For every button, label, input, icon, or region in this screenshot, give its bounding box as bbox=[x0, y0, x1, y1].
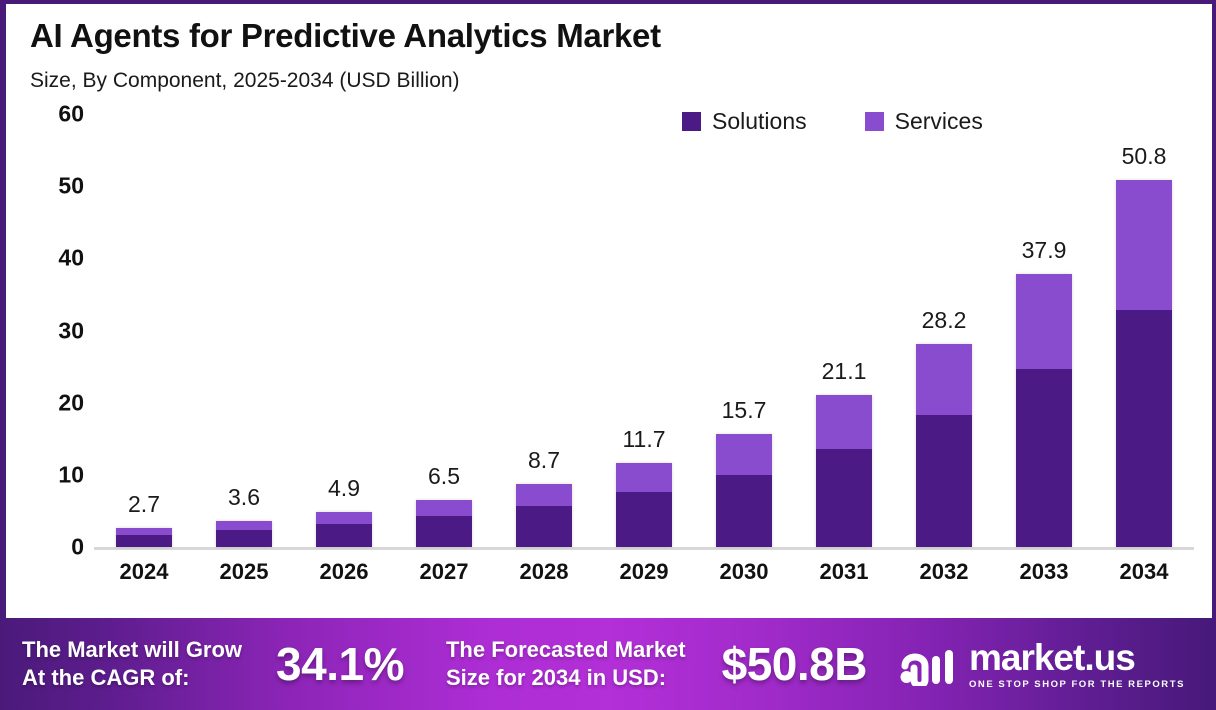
cagr-label: The Market will Grow At the CAGR of: bbox=[22, 636, 242, 691]
bar-segment-solutions[interactable] bbox=[116, 535, 172, 547]
logo-text: market.us ONE STOP SHOP FOR THE REPORTS bbox=[969, 639, 1185, 690]
x-axis-tick: 2030 bbox=[708, 559, 780, 585]
x-axis-tick: 2027 bbox=[408, 559, 480, 585]
bar-column[interactable]: 3.6 bbox=[208, 114, 280, 547]
bar-value-label: 2.7 bbox=[128, 491, 160, 518]
bar-group: 2.73.64.96.58.711.715.721.128.237.950.8 bbox=[94, 114, 1194, 547]
bar-stack[interactable] bbox=[116, 528, 172, 547]
x-axis: 2024202520262027202820292030203120322033… bbox=[94, 559, 1194, 585]
bar-value-label: 15.7 bbox=[722, 397, 767, 424]
bar-value-label: 6.5 bbox=[428, 463, 460, 490]
bar-stack[interactable] bbox=[516, 484, 572, 547]
market-us-logo-icon bbox=[899, 642, 957, 686]
bar-segment-services[interactable] bbox=[416, 500, 472, 516]
bar-stack[interactable] bbox=[1116, 180, 1172, 547]
bar-value-label: 11.7 bbox=[622, 426, 665, 453]
forecast-label: The Forecasted Market Size for 2034 in U… bbox=[446, 636, 686, 691]
bar-segment-solutions[interactable] bbox=[416, 516, 472, 547]
header: AI Agents for Predictive Analytics Marke… bbox=[6, 4, 1212, 93]
x-axis-tick: 2031 bbox=[808, 559, 880, 585]
y-axis-tick: 50 bbox=[58, 173, 84, 200]
bar-column[interactable]: 28.2 bbox=[908, 114, 980, 547]
bar-segment-services[interactable] bbox=[1116, 180, 1172, 310]
bar-value-label: 21.1 bbox=[822, 358, 867, 385]
infographic-root: AI Agents for Predictive Analytics Marke… bbox=[0, 0, 1216, 706]
bar-column[interactable]: 2.7 bbox=[108, 114, 180, 547]
bar-value-label: 8.7 bbox=[528, 447, 560, 474]
bar-segment-solutions[interactable] bbox=[516, 506, 572, 547]
bar-value-label: 4.9 bbox=[328, 475, 360, 502]
bar-segment-solutions[interactable] bbox=[1116, 310, 1172, 547]
logo-name: market.us bbox=[969, 639, 1185, 676]
x-axis-tick: 2034 bbox=[1108, 559, 1180, 585]
x-axis-baseline bbox=[94, 547, 1194, 550]
bar-stack[interactable] bbox=[916, 344, 972, 548]
bar-column[interactable]: 11.7 bbox=[608, 114, 680, 547]
page-title: AI Agents for Predictive Analytics Marke… bbox=[30, 18, 1212, 55]
x-axis-tick: 2029 bbox=[608, 559, 680, 585]
x-axis-tick: 2028 bbox=[508, 559, 580, 585]
bar-segment-services[interactable] bbox=[216, 521, 272, 530]
x-axis-tick: 2025 bbox=[208, 559, 280, 585]
y-axis-tick: 60 bbox=[58, 101, 84, 128]
bar-value-label: 37.9 bbox=[1022, 237, 1067, 264]
cagr-value: 34.1% bbox=[276, 637, 404, 691]
x-axis-tick: 2026 bbox=[308, 559, 380, 585]
bar-segment-services[interactable] bbox=[816, 395, 872, 449]
bar-segment-services[interactable] bbox=[716, 434, 772, 475]
bar-value-label: 28.2 bbox=[922, 307, 967, 334]
y-axis-tick: 30 bbox=[58, 317, 84, 344]
x-axis-tick: 2033 bbox=[1008, 559, 1080, 585]
bar-segment-services[interactable] bbox=[616, 463, 672, 493]
chart-subtitle: Size, By Component, 2025-2034 (USD Billi… bbox=[30, 69, 1212, 93]
footer-banner: The Market will Grow At the CAGR of: 34.… bbox=[0, 618, 1216, 710]
logo-tagline: ONE STOP SHOP FOR THE REPORTS bbox=[969, 680, 1185, 690]
bar-column[interactable]: 21.1 bbox=[808, 114, 880, 547]
bar-stack[interactable] bbox=[816, 395, 872, 547]
bar-segment-solutions[interactable] bbox=[316, 524, 372, 547]
x-axis-tick: 2024 bbox=[108, 559, 180, 585]
bar-value-label: 3.6 bbox=[228, 484, 260, 511]
bar-segment-services[interactable] bbox=[1016, 274, 1072, 370]
bar-value-label: 50.8 bbox=[1122, 143, 1167, 170]
y-axis: 0102030405060 bbox=[6, 114, 94, 549]
bar-stack[interactable] bbox=[416, 500, 472, 547]
bar-segment-solutions[interactable] bbox=[916, 415, 972, 547]
bar-segment-solutions[interactable] bbox=[716, 475, 772, 547]
forecast-value: $50.8B bbox=[722, 637, 867, 691]
bar-column[interactable]: 50.8 bbox=[1108, 114, 1180, 547]
bar-column[interactable]: 4.9 bbox=[308, 114, 380, 547]
market-us-logo[interactable]: market.us ONE STOP SHOP FOR THE REPORTS bbox=[899, 639, 1185, 690]
chart-plot-area: 0102030405060 2.73.64.96.58.711.715.721.… bbox=[6, 114, 1216, 609]
bar-stack[interactable] bbox=[216, 521, 272, 547]
bar-segment-services[interactable] bbox=[316, 512, 372, 524]
bar-segment-solutions[interactable] bbox=[216, 530, 272, 547]
bar-segment-solutions[interactable] bbox=[616, 492, 672, 547]
y-axis-tick: 20 bbox=[58, 389, 84, 416]
bar-column[interactable]: 8.7 bbox=[508, 114, 580, 547]
x-axis-tick: 2032 bbox=[908, 559, 980, 585]
bar-column[interactable]: 15.7 bbox=[708, 114, 780, 547]
y-axis-tick: 0 bbox=[71, 534, 84, 561]
bar-stack[interactable] bbox=[316, 512, 372, 547]
bar-segment-services[interactable] bbox=[116, 528, 172, 535]
y-axis-tick: 10 bbox=[58, 461, 84, 488]
y-axis-tick: 40 bbox=[58, 245, 84, 272]
bar-column[interactable]: 37.9 bbox=[1008, 114, 1080, 547]
bar-segment-services[interactable] bbox=[916, 344, 972, 415]
bar-segment-solutions[interactable] bbox=[1016, 369, 1072, 547]
bar-segment-solutions[interactable] bbox=[816, 449, 872, 547]
bar-stack[interactable] bbox=[616, 463, 672, 547]
bar-segment-services[interactable] bbox=[516, 484, 572, 506]
bar-stack[interactable] bbox=[716, 434, 772, 547]
bar-stack[interactable] bbox=[1016, 274, 1072, 548]
bar-column[interactable]: 6.5 bbox=[408, 114, 480, 547]
